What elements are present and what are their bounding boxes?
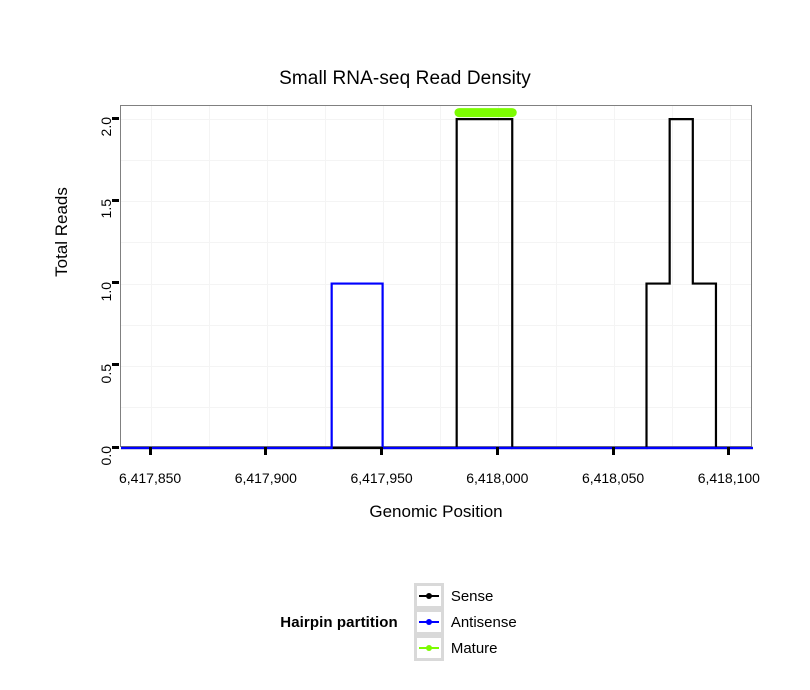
legend-title: Hairpin partition	[280, 614, 398, 631]
legend-entries: SenseAntisenseMature	[414, 583, 530, 661]
x-tick-label: 6,418,000	[452, 470, 542, 486]
legend-key-dot-icon	[426, 645, 432, 651]
legend-key-icon	[414, 583, 444, 609]
legend-key-dot-icon	[426, 593, 432, 599]
y-axis-label: Total Reads	[52, 162, 72, 302]
x-axis-label: Genomic Position	[120, 502, 752, 522]
legend-key-icon	[414, 609, 444, 635]
legend-entry-antisense[interactable]: Antisense	[414, 609, 517, 635]
y-tick-label: 0.5	[98, 364, 114, 410]
x-tick-mark	[612, 447, 615, 455]
x-tick-label: 6,417,850	[105, 470, 195, 486]
legend-entry-mature[interactable]: Mature	[414, 635, 517, 661]
x-tick-mark	[149, 447, 152, 455]
legend-label: Antisense	[451, 614, 517, 631]
x-tick-label: 6,417,950	[337, 470, 427, 486]
x-tick-label: 6,418,100	[684, 470, 774, 486]
y-tick-label: 2.0	[98, 117, 114, 163]
series-line-sense	[121, 119, 753, 448]
legend-key-icon	[414, 635, 444, 661]
x-tick-label: 6,418,050	[568, 470, 658, 486]
plot-panel	[120, 105, 752, 447]
legend-key-dot-icon	[426, 619, 432, 625]
legend: Hairpin partition SenseAntisenseMature	[0, 583, 810, 661]
x-tick-mark	[496, 447, 499, 455]
legend-label: Mature	[451, 640, 498, 657]
page-title: Small RNA-seq Read Density	[0, 68, 810, 90]
x-tick-label: 6,417,900	[221, 470, 311, 486]
y-tick-label: 1.5	[98, 199, 114, 245]
y-tick-label: 1.0	[98, 282, 114, 328]
x-tick-mark	[380, 447, 383, 455]
x-tick-mark	[264, 447, 267, 455]
chart-figure: Small RNA-seq Read Density Total Reads G…	[0, 0, 810, 690]
x-tick-mark	[727, 447, 730, 455]
legend-label: Sense	[451, 588, 494, 605]
series-line-antisense	[121, 284, 753, 448]
series-overlay	[121, 106, 753, 448]
legend-entry-sense[interactable]: Sense	[414, 583, 517, 609]
